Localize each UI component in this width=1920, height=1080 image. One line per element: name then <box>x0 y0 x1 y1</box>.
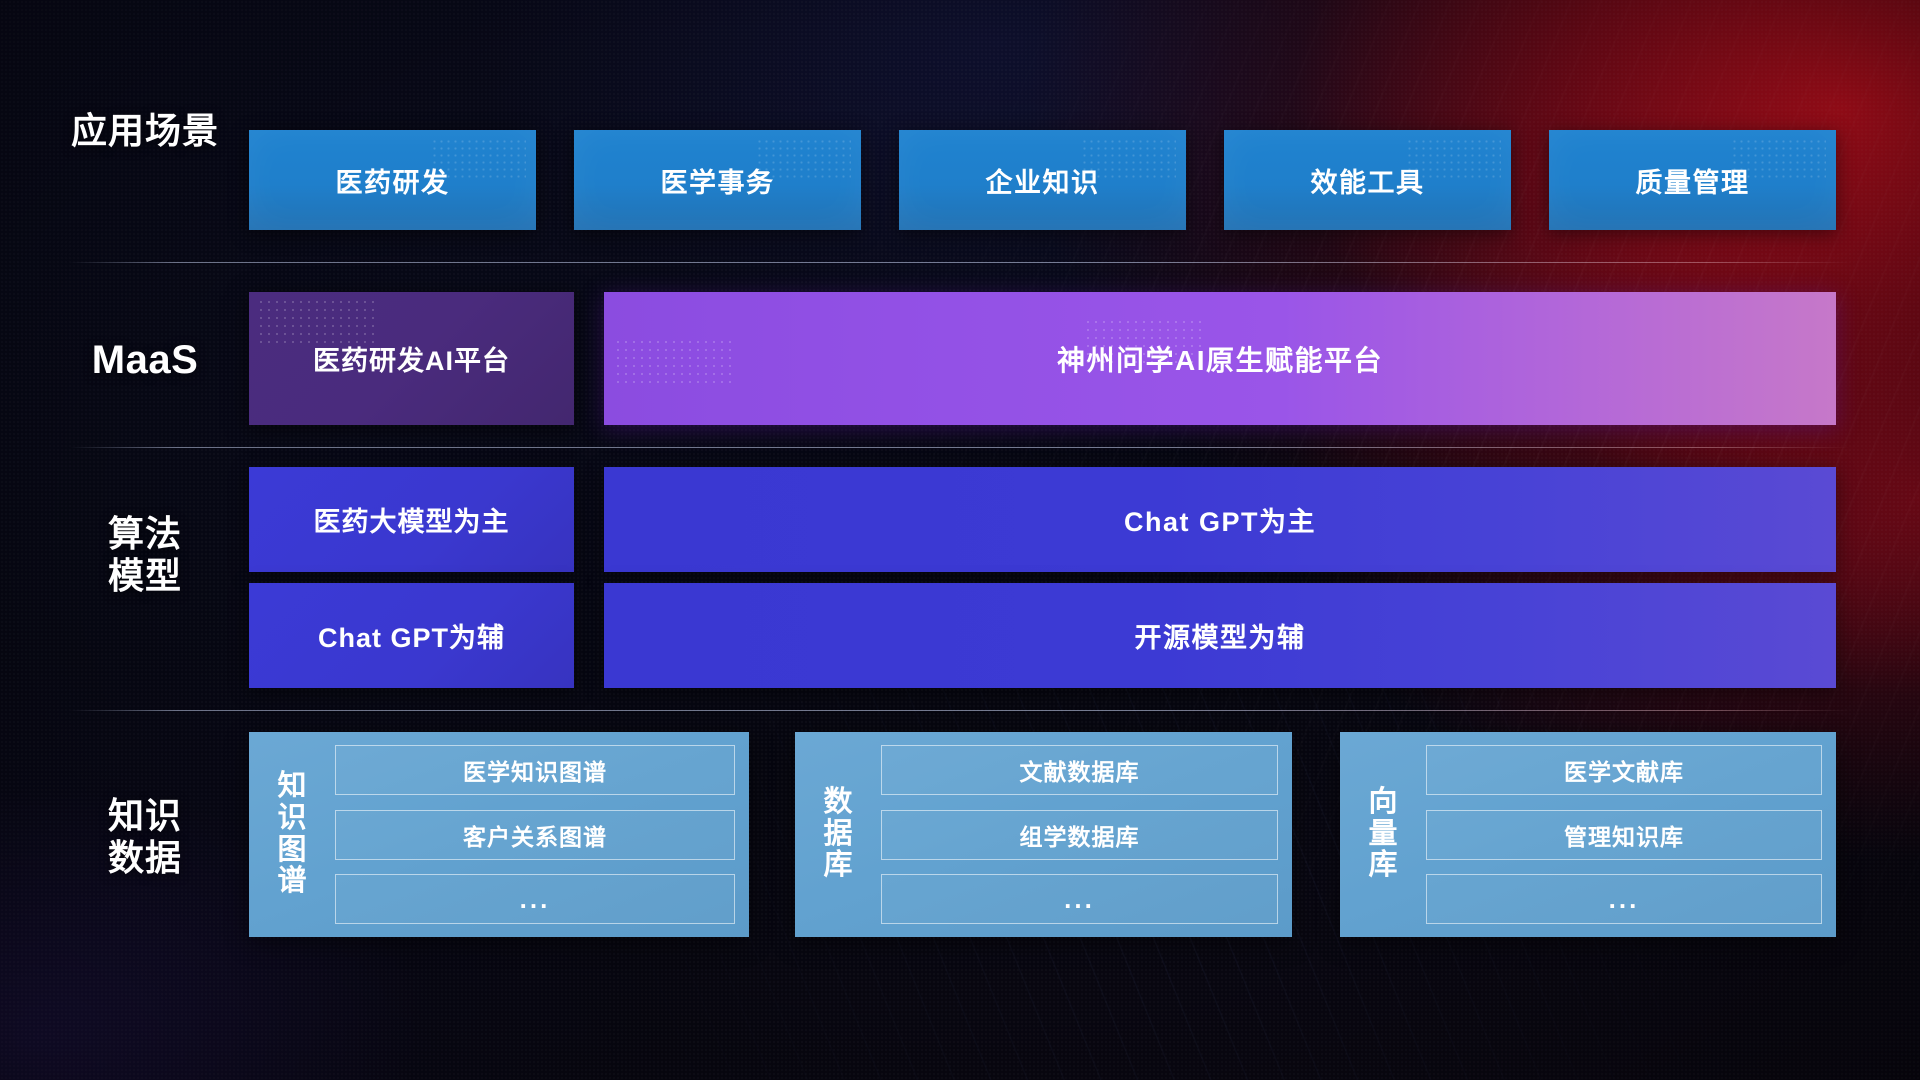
app-box-label: 质量管理 <box>1636 161 1750 200</box>
architecture-diagram: 应用场景 医药研发 医学事务 企业知识 效能工具 质量管理 MaaS 医药研发A… <box>0 0 1920 1080</box>
row-label-algorithm: 算法 模型 <box>70 513 220 597</box>
maas-left-label: 医药研发AI平台 <box>313 339 510 378</box>
knowledge-item-more[interactable]: ... <box>1426 874 1822 924</box>
algo-right-label: Chat GPT为主 <box>1124 500 1316 539</box>
algo-box-left-0[interactable]: 医药大模型为主 <box>249 467 574 572</box>
knowledge-item[interactable]: 组学数据库 <box>881 810 1278 860</box>
knowledge-card-items-2: 医学文献库 管理知识库 ... <box>1412 745 1822 924</box>
knowledge-card-items-1: 文献数据库 组学数据库 ... <box>867 745 1278 924</box>
row-label-application: 应用场景 <box>70 110 220 152</box>
algo-box-right-0[interactable]: Chat GPT为主 <box>604 467 1836 572</box>
app-box-3[interactable]: 效能工具 <box>1224 130 1511 230</box>
algo-right-label: 开源模型为辅 <box>1135 616 1306 655</box>
knowledge-card-1[interactable]: 数 据 库 文献数据库 组学数据库 ... <box>795 732 1292 937</box>
knowledge-item-more[interactable]: ... <box>335 874 735 924</box>
algo-left-label: 医药大模型为主 <box>314 500 510 539</box>
knowledge-item[interactable]: 文献数据库 <box>881 745 1278 795</box>
knowledge-card-vertical-label-0: 知 识 图 谱 <box>263 745 321 924</box>
knowledge-item[interactable]: 医学知识图谱 <box>335 745 735 795</box>
app-box-label: 效能工具 <box>1311 161 1425 200</box>
row-label-maas: MaaS <box>70 337 220 383</box>
knowledge-card-vertical-label-2: 向 量 库 <box>1354 745 1412 924</box>
app-box-0[interactable]: 医药研发 <box>249 130 536 230</box>
knowledge-card-2[interactable]: 向 量 库 医学文献库 管理知识库 ... <box>1340 732 1836 937</box>
app-box-label: 医药研发 <box>336 161 450 200</box>
app-box-4[interactable]: 质量管理 <box>1549 130 1836 230</box>
app-box-label: 企业知识 <box>986 161 1100 200</box>
app-box-1[interactable]: 医学事务 <box>574 130 861 230</box>
knowledge-item[interactable]: 医学文献库 <box>1426 745 1822 795</box>
divider-algorithm <box>70 710 1850 711</box>
knowledge-card-0[interactable]: 知 识 图 谱 医学知识图谱 客户关系图谱 ... <box>249 732 749 937</box>
dot-texture-icon <box>257 298 377 344</box>
algo-box-right-1[interactable]: 开源模型为辅 <box>604 583 1836 688</box>
knowledge-item[interactable]: 客户关系图谱 <box>335 810 735 860</box>
dot-texture-icon <box>614 338 734 384</box>
app-box-label: 医学事务 <box>661 161 775 200</box>
algo-left-label: Chat GPT为辅 <box>318 616 505 655</box>
maas-right-label: 神州问学AI原生赋能平台 <box>1057 339 1383 379</box>
knowledge-card-items-0: 医学知识图谱 客户关系图谱 ... <box>321 745 735 924</box>
knowledge-item[interactable]: 管理知识库 <box>1426 810 1822 860</box>
row-label-knowledge: 知识 数据 <box>70 795 220 879</box>
maas-box-left[interactable]: 医药研发AI平台 <box>249 292 574 425</box>
app-box-2[interactable]: 企业知识 <box>899 130 1186 230</box>
divider-maas <box>70 447 1850 448</box>
knowledge-item-more[interactable]: ... <box>881 874 1278 924</box>
algo-box-left-1[interactable]: Chat GPT为辅 <box>249 583 574 688</box>
divider-application <box>70 262 1850 263</box>
knowledge-card-vertical-label-1: 数 据 库 <box>809 745 867 924</box>
maas-box-right[interactable]: 神州问学AI原生赋能平台 <box>604 292 1836 425</box>
